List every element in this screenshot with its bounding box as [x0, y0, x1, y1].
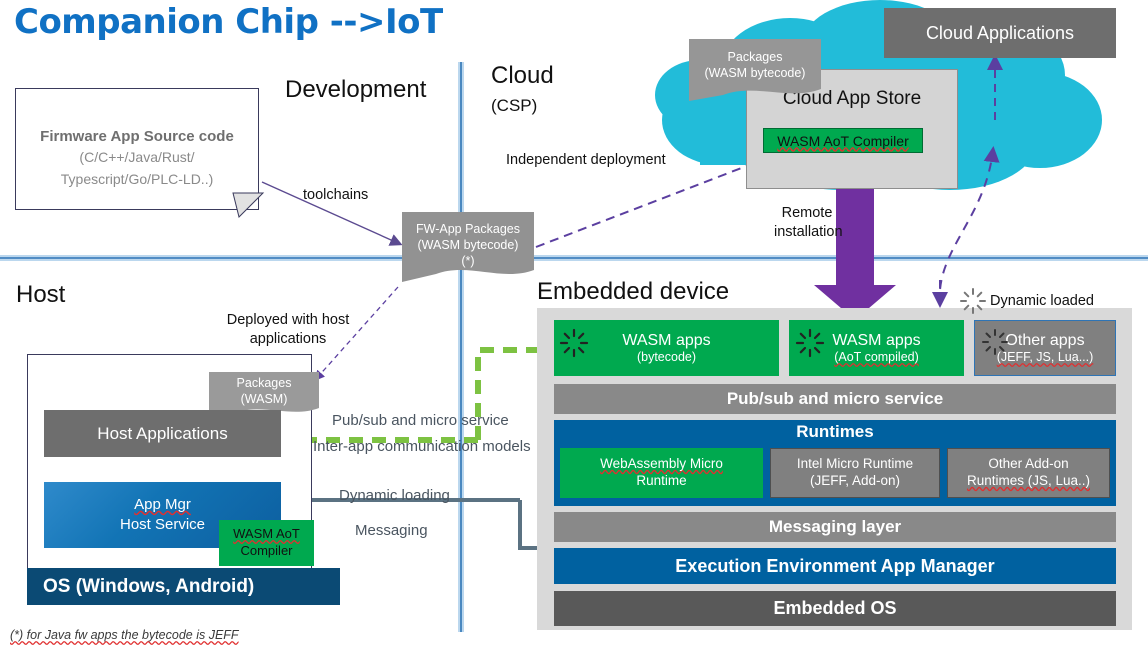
cloud-packages-line1: Packages: [728, 49, 783, 65]
label-deployed-host-l2: applications: [218, 330, 358, 349]
embedded-app-manager-bar[interactable]: Execution Environment App Manager: [554, 548, 1116, 584]
host-os-bar[interactable]: OS (Windows, Android): [27, 568, 340, 605]
dynamic-loaded-legend-icon: [960, 288, 986, 314]
embedded-runtime-2-line2: Runtimes (JS, Lua..): [967, 473, 1090, 490]
footnote-text: (*) for Java fw apps the bytecode is JEF…: [10, 628, 239, 642]
cloud-applications-box[interactable]: Cloud Applications: [884, 8, 1116, 58]
label-remote-installation-l2: installation: [774, 223, 840, 242]
embedded-app-1-line1: WASM apps: [832, 332, 920, 350]
host-packages-line1: Packages: [237, 375, 292, 391]
wasm-aot-compiler-cloud[interactable]: WASM AoT Compiler: [763, 128, 923, 153]
embedded-messaging-bar[interactable]: Messaging layer: [554, 512, 1116, 542]
wasm-aot-compiler-host[interactable]: WASM AoT Compiler: [219, 520, 314, 566]
host-packages-line2: (WASM): [241, 391, 288, 407]
label-toolchains: toolchains: [303, 186, 368, 205]
embedded-pubsub-bar[interactable]: Pub/sub and micro service: [554, 384, 1116, 414]
footnote: (*) for Java fw apps the bytecode is JEF…: [10, 628, 239, 642]
embedded-app-0-line1: WASM apps: [622, 332, 710, 350]
embedded-runtime-2[interactable]: Other Add-on Runtimes (JS, Lua..): [947, 448, 1110, 498]
fw-app-packages-callout: FW-App Packages (WASM bytecode) (*): [402, 212, 534, 282]
wasm-aot-host-line1: WASM AoT: [233, 526, 300, 543]
host-os-label: OS (Windows, Android): [43, 576, 254, 598]
app-mgr-line2: Host Service: [120, 515, 205, 535]
label-pubsub-micro-service: Pub/sub and micro service: [332, 411, 509, 431]
label-remote-installation: Remote installation: [774, 204, 840, 242]
cloud-packages-line2: (WASM bytecode): [705, 65, 806, 81]
embedded-runtime-0-line2: Runtime: [636, 473, 686, 490]
label-messaging: Messaging: [355, 521, 428, 541]
label-deployed-with-host: Deployed with host applications: [218, 311, 358, 349]
app-mgr-line1: App Mgr: [134, 495, 191, 515]
label-independent-deployment: Independent deployment: [506, 151, 666, 170]
wasm-aot-compiler-cloud-label: WASM AoT Compiler: [777, 133, 908, 149]
embedded-app-0-line2: (bytecode): [637, 350, 696, 364]
embedded-runtime-0-line1: WebAssembly Micro: [600, 456, 723, 473]
embedded-runtime-1-line2: (JEFF, Add-on): [810, 473, 900, 490]
fw-packages-line1: FW-App Packages: [416, 221, 520, 237]
embedded-app-1-line2: (AoT compiled): [834, 350, 919, 364]
fw-packages-line3: (*): [461, 253, 474, 269]
embedded-runtime-2-line1: Other Add-on: [988, 456, 1068, 473]
embedded-runtime-1[interactable]: Intel Micro Runtime (JEFF, Add-on): [770, 448, 940, 498]
embedded-app-2-line2: (JEFF, JS, Lua...): [997, 350, 1094, 364]
dynamic-loaded-spinner-icon: [559, 328, 589, 358]
label-deployed-host-l1: Deployed with host: [218, 311, 358, 330]
host-applications-box[interactable]: Host Applications: [44, 410, 281, 457]
dynamic-loaded-spinner-icon: [795, 328, 825, 358]
embedded-runtime-1-line1: Intel Micro Runtime: [797, 456, 913, 473]
embedded-device-panel: WASM apps (bytecode) WASM apps (AoT comp…: [537, 308, 1132, 630]
label-inter-app-models: Inter-app communication models: [313, 437, 531, 457]
fw-packages-line2: (WASM bytecode): [418, 237, 519, 253]
dynamic-loaded-legend-label: Dynamic loaded: [990, 292, 1094, 311]
label-dynamic-loading: Dynamic loading: [339, 486, 450, 506]
embedded-runtimes-group: Runtimes WebAssembly Micro Runtime Intel…: [554, 420, 1116, 506]
embedded-runtime-0[interactable]: WebAssembly Micro Runtime: [560, 448, 763, 498]
wasm-aot-host-line2: Compiler: [240, 543, 292, 560]
embedded-runtimes-title: Runtimes: [554, 422, 1116, 442]
label-remote-installation-l1: Remote: [774, 204, 840, 223]
cloud-packages-callout: Packages (WASM bytecode): [689, 39, 821, 101]
embedded-app-2-line1: Other apps: [1005, 332, 1084, 350]
slide-canvas: Companion Chip -->IoT Development Cloud …: [0, 0, 1148, 653]
dynamic-loaded-spinner-icon: [981, 328, 1009, 356]
embedded-os-bar[interactable]: Embedded OS: [554, 591, 1116, 626]
